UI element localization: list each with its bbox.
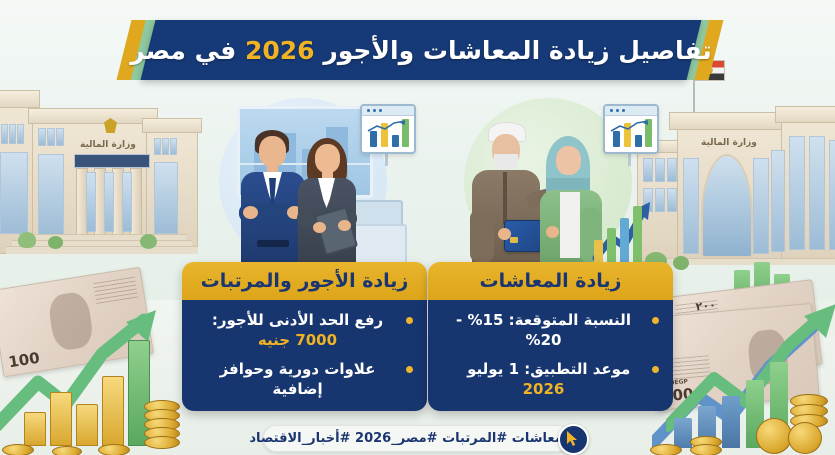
coin bbox=[650, 444, 682, 455]
coin bbox=[2, 444, 34, 455]
card-wages-bullet-1-text: علاوات دورية وحوافز إضافية bbox=[196, 359, 399, 400]
card-pensions-body: النسبة المتوقعة: 15% - 20% موعد التطبيق:… bbox=[428, 300, 673, 411]
coin-stack bbox=[144, 436, 180, 449]
gold-bar bbox=[50, 392, 72, 446]
card-pensions-bullet-1-text: موعد التطبيق: 1 يوليو bbox=[467, 360, 630, 378]
banner-title-after: في مصر bbox=[130, 36, 236, 65]
bullet-dot-icon bbox=[406, 366, 413, 373]
ministry-building-left: وزارة المالية bbox=[0, 82, 199, 267]
list-item: رفع الحد الأدنى للأجور: 7000 جنيه bbox=[196, 310, 413, 351]
blue-bar bbox=[722, 396, 740, 448]
banner-title: تفاصيل زيادة المعاشات والأجور 2026 في مص… bbox=[148, 20, 694, 80]
infographic-canvas: وزارة المالية وزارة bbox=[0, 0, 835, 455]
coin bbox=[52, 446, 82, 455]
bullet-dot-icon bbox=[652, 317, 659, 324]
title-banner: تفاصيل زيادة المعاشات والأجور 2026 في مص… bbox=[120, 20, 720, 80]
bullet-dot-icon bbox=[406, 317, 413, 324]
coin-large bbox=[788, 422, 822, 454]
growth-chart-window-icon-left bbox=[360, 104, 416, 154]
list-item: النسبة المتوقعة: 15% - 20% bbox=[442, 310, 659, 351]
illustration-workers bbox=[197, 92, 412, 267]
footer-hashtags: #المعاشات #المرتبات #مصر_2026 #أخبار_الا… bbox=[263, 425, 570, 452]
list-item: موعد التطبيق: 1 يوليو 2026 bbox=[442, 359, 659, 400]
card-wages-body: رفع الحد الأدنى للأجور: 7000 جنيه علاوات… bbox=[182, 300, 427, 411]
hashtags-text: #المعاشات #المرتبات #مصر_2026 #أخبار_الا… bbox=[249, 431, 583, 446]
illustration-pensioners bbox=[442, 92, 657, 267]
building-label-right: وزارة المالية bbox=[701, 138, 757, 148]
coin-large bbox=[756, 418, 792, 454]
card-pensions-bullet-1-value: 2026 bbox=[523, 380, 565, 398]
card-pensions[interactable]: زيادة المعاشات النسبة المتوقعة: 15% - 20… bbox=[428, 262, 673, 411]
chart-trend-line bbox=[610, 120, 650, 134]
building-label-left: وزارة المالية bbox=[80, 140, 136, 150]
money-cluster-left: 100 bbox=[0, 272, 194, 452]
chart-trend-line bbox=[367, 120, 407, 134]
card-wages-bullet-0-text: رفع الحد الأدنى للأجور: bbox=[212, 311, 383, 329]
banner-title-year: 2026 bbox=[245, 36, 315, 65]
gold-bar bbox=[24, 412, 46, 446]
coin-stack bbox=[690, 444, 722, 455]
growth-chart-window-icon-right bbox=[603, 104, 659, 154]
card-wages-bullet-0-value: 7000 جنيه bbox=[258, 331, 337, 349]
card-wages[interactable]: زيادة الأجور والمرتبات رفع الحد الأدنى ل… bbox=[182, 262, 427, 411]
ministry-building-right: وزارة المالية bbox=[639, 92, 835, 270]
list-item: علاوات دورية وحوافز إضافية bbox=[196, 359, 413, 400]
mouse-cursor-icon[interactable] bbox=[558, 424, 589, 455]
money-cluster-right: ٢٠٠ 200 200EGP bbox=[648, 270, 835, 455]
gold-bar bbox=[102, 376, 124, 446]
coin bbox=[98, 444, 130, 455]
blue-bar bbox=[674, 418, 692, 448]
banner-title-before: تفاصيل زيادة المعاشات والأجور bbox=[323, 36, 711, 65]
card-wages-header: زيادة الأجور والمرتبات bbox=[182, 262, 427, 300]
bullet-dot-icon bbox=[652, 366, 659, 373]
gold-bar bbox=[76, 404, 98, 446]
card-pensions-header: زيادة المعاشات bbox=[428, 262, 673, 300]
card-pensions-bullet-0-text: النسبة المتوقعة: 15% - 20% bbox=[442, 310, 645, 351]
